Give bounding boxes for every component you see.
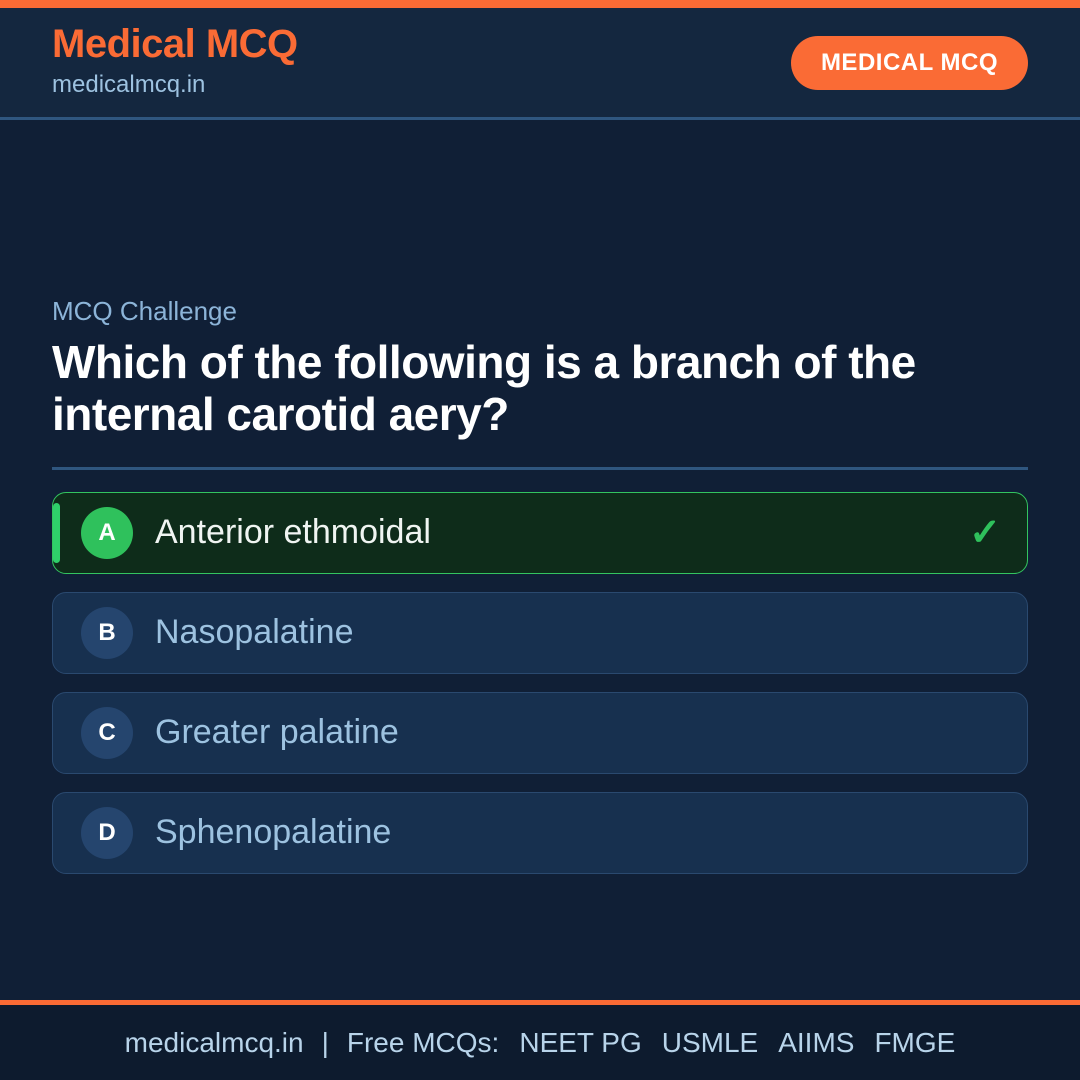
footer-site: medicalmcq.in — [125, 1029, 304, 1057]
footer-exam-neetpg: NEET PG — [519, 1029, 641, 1057]
question-divider — [52, 467, 1028, 470]
check-icon: ✓ — [969, 514, 1001, 552]
option-label-b: Nasopalatine — [155, 614, 969, 651]
footer-separator: | — [304, 1027, 347, 1059]
mcq-card: Medical MCQ medicalmcq.in MEDICAL MCQ MC… — [0, 0, 1080, 1080]
option-d[interactable]: D Sphenopalatine ✓ — [52, 792, 1028, 874]
footer-bar: medicalmcq.in | Free MCQs: NEET PG USMLE… — [0, 1000, 1080, 1080]
header-bar: Medical MCQ medicalmcq.in MEDICAL MCQ — [0, 8, 1080, 120]
option-badge-b: B — [81, 607, 133, 659]
option-badge-c: C — [81, 707, 133, 759]
option-badge-d: D — [81, 807, 133, 859]
option-badge-a: A — [81, 507, 133, 559]
footer-label: Free MCQs: — [347, 1029, 499, 1057]
footer-exam-usmle: USMLE — [662, 1029, 758, 1057]
main-content: MCQ Challenge Which of the following is … — [0, 120, 1080, 1000]
bottom-spacer — [52, 874, 1028, 1000]
brand-subtitle: medicalmcq.in — [52, 68, 298, 102]
brand-block: Medical MCQ medicalmcq.in — [52, 23, 298, 102]
option-c[interactable]: C Greater palatine ✓ — [52, 692, 1028, 774]
option-a[interactable]: A Anterior ethmoidal ✓ — [52, 492, 1028, 574]
footer-exam-list: NEET PG USMLE AIIMS FMGE — [519, 1029, 955, 1057]
option-label-c: Greater palatine — [155, 714, 969, 751]
eyebrow-label: MCQ Challenge — [52, 296, 1028, 327]
option-label-d: Sphenopalatine — [155, 814, 969, 851]
options-list: A Anterior ethmoidal ✓ B Nasopalatine ✓ … — [52, 492, 1028, 874]
top-spacer — [52, 120, 1028, 296]
brand-title: Medical MCQ — [52, 23, 298, 65]
correct-accent-bar — [53, 503, 60, 563]
option-label-a: Anterior ethmoidal — [155, 514, 969, 551]
footer-exam-aiims: AIIMS — [778, 1029, 854, 1057]
option-b[interactable]: B Nasopalatine ✓ — [52, 592, 1028, 674]
question-text: Which of the following is a branch of th… — [52, 337, 1028, 441]
footer-exam-fmge: FMGE — [874, 1029, 955, 1057]
top-accent-rule — [0, 0, 1080, 8]
header-badge: MEDICAL MCQ — [791, 36, 1028, 90]
